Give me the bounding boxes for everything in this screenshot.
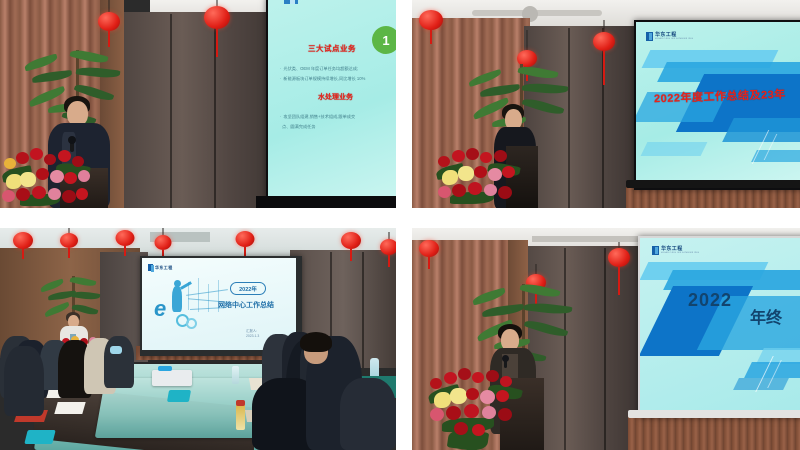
step-number-badge: 1: [372, 26, 396, 54]
projection-screen-frame: 华东工程 HUADONG ENGINEERING 2022 年终: [638, 236, 800, 418]
logo-mark-icon: [646, 32, 653, 41]
projection-screen-frame: 华东工程 HUADONG ENGINEERING 2022年度工作总结及23年: [634, 20, 800, 190]
slide-title-rest: 年终: [750, 304, 782, 328]
lantern: [416, 236, 442, 276]
slide-bullet: 新能源板块订单规模持续增长,同比增长 10%: [280, 76, 365, 82]
wood-wainscot: [628, 414, 800, 450]
teal-folder: [167, 390, 191, 402]
photo-bottom-right[interactable]: 华东工程 HUADONG ENGINEERING 2022 年终: [412, 228, 800, 450]
projection-screen-frame: 1 三大试点业务 光伏类、OEM 年度订单任务均超额达成; 新能源板块订单规模持…: [266, 0, 396, 208]
lantern: [338, 228, 364, 268]
logo-subtext: HUADONG ENGINEERING: [655, 38, 694, 40]
slide-footer-presenter: 汇报人:: [246, 328, 257, 333]
attendee-foreground: [340, 378, 396, 450]
lantern: [10, 228, 36, 264]
attendee-hair: [300, 332, 332, 352]
projector: [152, 370, 192, 386]
panel-seam: [362, 252, 364, 368]
slide-subheading: 水处理业务: [318, 92, 353, 102]
lantern: [376, 232, 396, 278]
slide-heading: 三大试点业务: [308, 43, 356, 54]
slide-graphic-figure: [172, 286, 182, 312]
attendee: [104, 336, 134, 388]
logo-subtext: HUADONG ENGINEERING: [661, 252, 700, 254]
photo-top-left[interactable]: 1 三大试点业务 光伏类、OEM 年度订单任务均超额达成; 新能源板块订单规模持…: [0, 0, 396, 208]
attendee: [4, 346, 44, 416]
logo-mark-icon: [148, 264, 153, 271]
wall-panel: [118, 12, 278, 208]
lantern: [200, 0, 234, 90]
slide-title-year: 2022: [688, 290, 732, 311]
slide-title: 网络中心工作总结: [218, 300, 274, 310]
screen-bottom-bar: [626, 180, 800, 188]
lantern: [588, 20, 620, 100]
slide-graphic-arm: [180, 281, 192, 290]
teal-notebook: [24, 430, 55, 444]
logo-text: 华东工程: [155, 266, 173, 270]
slide-graphic-e: e: [154, 296, 166, 322]
company-logo: 华东工程: [148, 264, 173, 271]
slide-surface[interactable]: 华东工程 HUADONG ENGINEERING 2022 年终: [640, 238, 800, 412]
lantern: [604, 242, 634, 312]
company-logo: 华东工程 HUADONG ENGINEERING: [646, 32, 694, 41]
photo-bottom-left[interactable]: 华东工程 e 2022年 网络中心工作总结 汇报人: 2023.1: [0, 228, 396, 450]
panel-seam: [170, 14, 172, 208]
photo-top-right[interactable]: 华东工程 HUADONG ENGINEERING 2022年度工作总结及23年: [412, 0, 800, 208]
flower-bouquet: [0, 138, 96, 208]
tea-cup: [236, 404, 245, 430]
slide-surface[interactable]: 1 三大试点业务 光伏类、OEM 年度订单任务均超额达成; 新能源板块订单规模持…: [268, 0, 396, 208]
flower-bouquet: [428, 360, 526, 450]
water-bottle: [232, 366, 239, 384]
photo-collage: 1 三大试点业务 光伏类、OEM 年度订单任务均超额达成; 新能源板块订单规模持…: [0, 0, 800, 450]
logo-mark-icon: [652, 246, 659, 255]
flower-bouquet: [434, 140, 524, 208]
gear-icon: [186, 318, 197, 329]
projector-top: [158, 366, 172, 371]
slide-bullet: 光伏类、OEM 年度订单任务均超额达成;: [280, 66, 358, 72]
slide-footer-date: 2023.1.3: [246, 334, 259, 338]
face-mask: [110, 346, 122, 354]
lantern: [416, 6, 446, 62]
lantern: [112, 228, 138, 268]
paper-document: [54, 402, 85, 414]
slide-surface[interactable]: 华东工程 HUADONG ENGINEERING 2022年度工作总结及23年: [636, 22, 800, 184]
lantern: [56, 228, 82, 270]
slide-sub-bullet: 攻坚团队组建,销售+技术组成,跟单成交: [280, 114, 355, 120]
tea-cup-lid: [236, 400, 245, 406]
slide-year-badge: 2022年: [230, 282, 266, 295]
screen-bottom-bar: [256, 196, 396, 208]
slide-sub-bullet: 点、圆满完成任务: [282, 124, 316, 130]
screen-bottom-bar: [628, 410, 800, 418]
company-logo: 华东工程 HUADONG ENGINEERING: [652, 246, 700, 255]
